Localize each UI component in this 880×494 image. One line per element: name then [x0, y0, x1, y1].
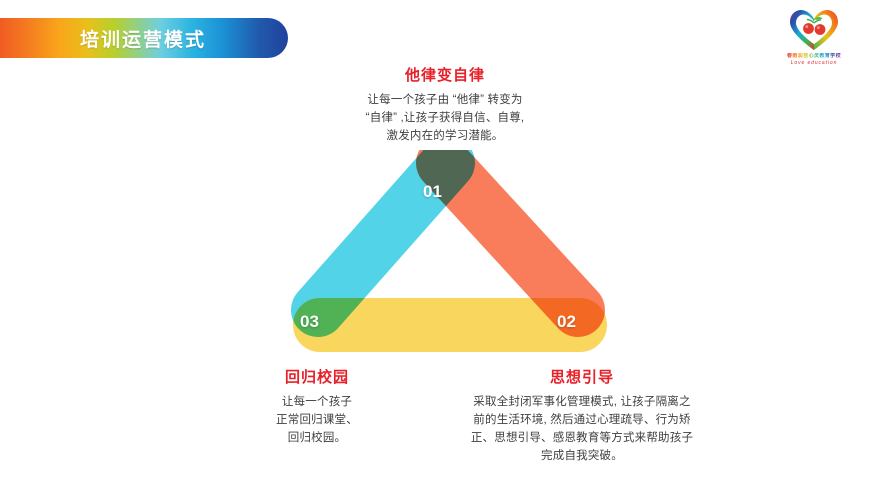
section-body-03: 让每一个孩子 正常回归课堂、 回归校园。 — [222, 393, 412, 447]
section-block-01: 他律变自律 让每一个孩子由 “他律” 转变为 “自律” ,让孩子获得自信、自尊,… — [300, 64, 590, 145]
node-number-01: 01 — [423, 182, 442, 202]
section-body-line: 正、思想引导、感恩教育等方式来帮助孩子 — [432, 429, 732, 447]
section-body-line: 前的生活环境, 然后通过心理疏导、行为矫 — [432, 411, 732, 429]
node-number-03: 03 — [300, 312, 319, 332]
section-title-02: 思想引导 — [432, 366, 732, 387]
section-block-02: 思想引导 采取全封闭军事化管理模式, 让孩子隔离之 前的生活环境, 然后通过心理… — [432, 366, 732, 465]
section-body-02: 采取全封闭军事化管理模式, 让孩子隔离之 前的生活环境, 然后通过心理疏导、行为… — [432, 393, 732, 465]
section-title-01: 他律变自律 — [300, 64, 590, 85]
bar-coral — [443, 163, 578, 310]
node-number-02: 02 — [557, 312, 576, 332]
section-body-line: 正常回归课堂、 — [222, 411, 412, 429]
triangle-bars — [258, 150, 638, 365]
page-title-banner: 培训运营模式 — [0, 18, 288, 58]
logo-chinese-text: 春雨润苗心灵教育学校 — [787, 53, 841, 60]
logo-english-text: Love education — [791, 60, 838, 67]
section-body-line: 采取全封闭军事化管理模式, 让孩子隔离之 — [432, 393, 732, 411]
page-title: 培训运营模式 — [52, 25, 206, 52]
rainbow-heart-cherry-icon — [788, 8, 840, 52]
section-body-line: 让每一个孩子 — [222, 393, 412, 411]
section-title-03: 回归校园 — [222, 366, 412, 387]
triangle-cycle-diagram: 01 02 03 — [258, 150, 638, 365]
section-block-03: 回归校园 让每一个孩子 正常回归课堂、 回归校园。 — [222, 366, 412, 447]
section-body-line: 回归校园。 — [222, 429, 412, 447]
section-body-line: 完成自我突破。 — [432, 447, 732, 465]
brand-logo: 春雨润苗心灵教育学校 Love education — [766, 8, 862, 70]
section-body-line: “自律” ,让孩子获得自信、自尊, — [300, 109, 590, 127]
section-body-01: 让每一个孩子由 “他律” 转变为 “自律” ,让孩子获得自信、自尊, 激发内在的… — [300, 91, 590, 145]
section-body-line: 激发内在的学习潜能。 — [300, 127, 590, 145]
section-body-line: 让每一个孩子由 “他律” 转变为 — [300, 91, 590, 109]
